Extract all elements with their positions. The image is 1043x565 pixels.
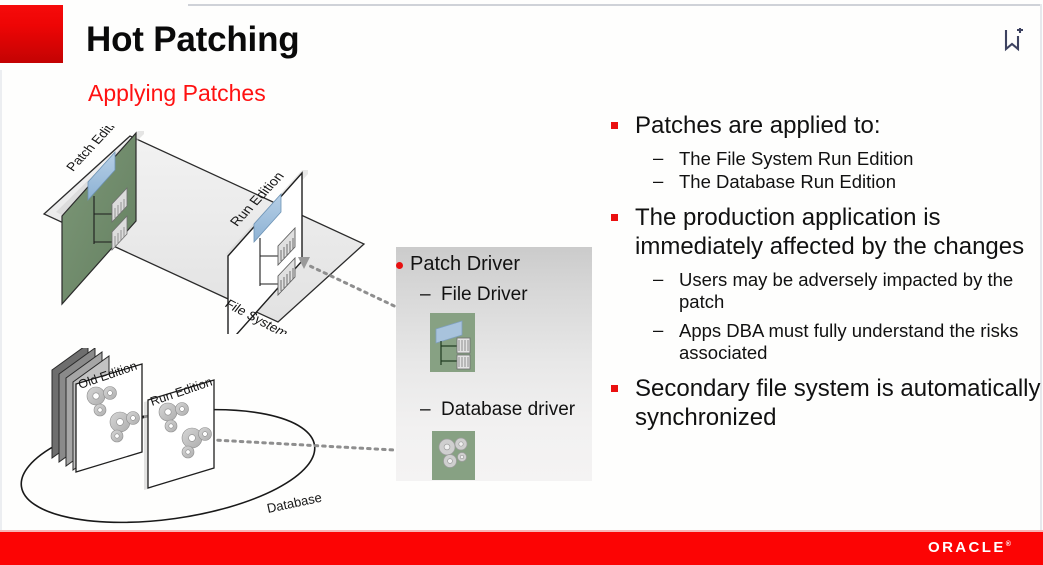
oracle-logo-trademark: ® <box>1006 541 1011 548</box>
square-bullet-icon <box>611 385 618 392</box>
bullet-text: Secondary file system is automatically s… <box>635 375 1041 431</box>
page-title: Hot Patching <box>86 22 299 59</box>
dash-marker-icon: – <box>653 268 663 291</box>
callout-item-database-driver-label: Database driver <box>441 399 575 420</box>
dash-marker-icon: – <box>420 399 431 421</box>
bullet-level1: Patches are applied to: <box>609 112 1041 141</box>
dash-marker-icon: – <box>653 170 663 193</box>
dash-marker-icon: – <box>420 284 431 306</box>
bullet-text: Users may be adversely impacted by the p… <box>679 269 1013 313</box>
bullet-level2: – Apps DBA must fully understand the ris… <box>609 320 1041 365</box>
bullet-dot-icon <box>396 262 403 269</box>
slide-left-rule <box>0 70 2 531</box>
oracle-logo-text: ORACLE <box>928 539 1006 556</box>
spacer <box>609 366 1041 375</box>
bookmark-add-icon[interactable] <box>1004 28 1024 52</box>
bullet-text: The Database Run Edition <box>679 171 896 192</box>
bullet-level1: The production application is immediatel… <box>609 204 1041 262</box>
bullet-text: Patches are applied to: <box>635 112 881 139</box>
footer-bar <box>0 532 1043 565</box>
bullet-text: The production application is immediatel… <box>635 204 1024 260</box>
database-driver-gears-icon <box>432 431 475 480</box>
page-subtitle: Applying Patches <box>88 81 266 105</box>
square-bullet-icon <box>611 122 618 129</box>
bullet-level2: – The File System Run Edition <box>609 148 1041 171</box>
file-driver-server-icon <box>430 313 475 372</box>
square-bullet-icon <box>611 214 618 221</box>
diagram-database: Old Edition Run Edition Database <box>18 348 390 536</box>
brand-corner-block <box>0 5 63 63</box>
slide-canvas: Hot Patching Applying Patches <box>0 0 1043 565</box>
callout-title-row: Patch Driver <box>410 253 520 276</box>
diagram-file-system: Patch Edition Run Edition File System <box>26 126 382 334</box>
callout-item-file-driver-label: File Driver <box>441 284 528 305</box>
bullet-level1: Secondary file system is automatically s… <box>609 375 1041 433</box>
bullet-text: Apps DBA must fully understand the risks… <box>679 320 1018 364</box>
slide-top-rule <box>188 4 1041 6</box>
bullet-level2: – The Database Run Edition <box>609 171 1041 194</box>
bullet-level2: – Users may be adversely impacted by the… <box>609 269 1041 314</box>
dash-marker-icon: – <box>653 319 663 342</box>
callout-title-text: Patch Driver <box>410 253 520 275</box>
spacer <box>609 195 1041 204</box>
patch-driver-callout: Patch Driver – File Driver – Database dr… <box>396 247 592 481</box>
dash-marker-icon: – <box>653 147 663 170</box>
callout-item-database-driver: – Database driver <box>441 399 575 421</box>
bullet-text: The File System Run Edition <box>679 148 913 169</box>
callout-item-file-driver: – File Driver <box>441 284 528 306</box>
bullet-list: Patches are applied to: – The File Syste… <box>609 112 1041 434</box>
database-label: Database <box>266 490 324 516</box>
oracle-logo: ORACLE® <box>928 539 1011 556</box>
